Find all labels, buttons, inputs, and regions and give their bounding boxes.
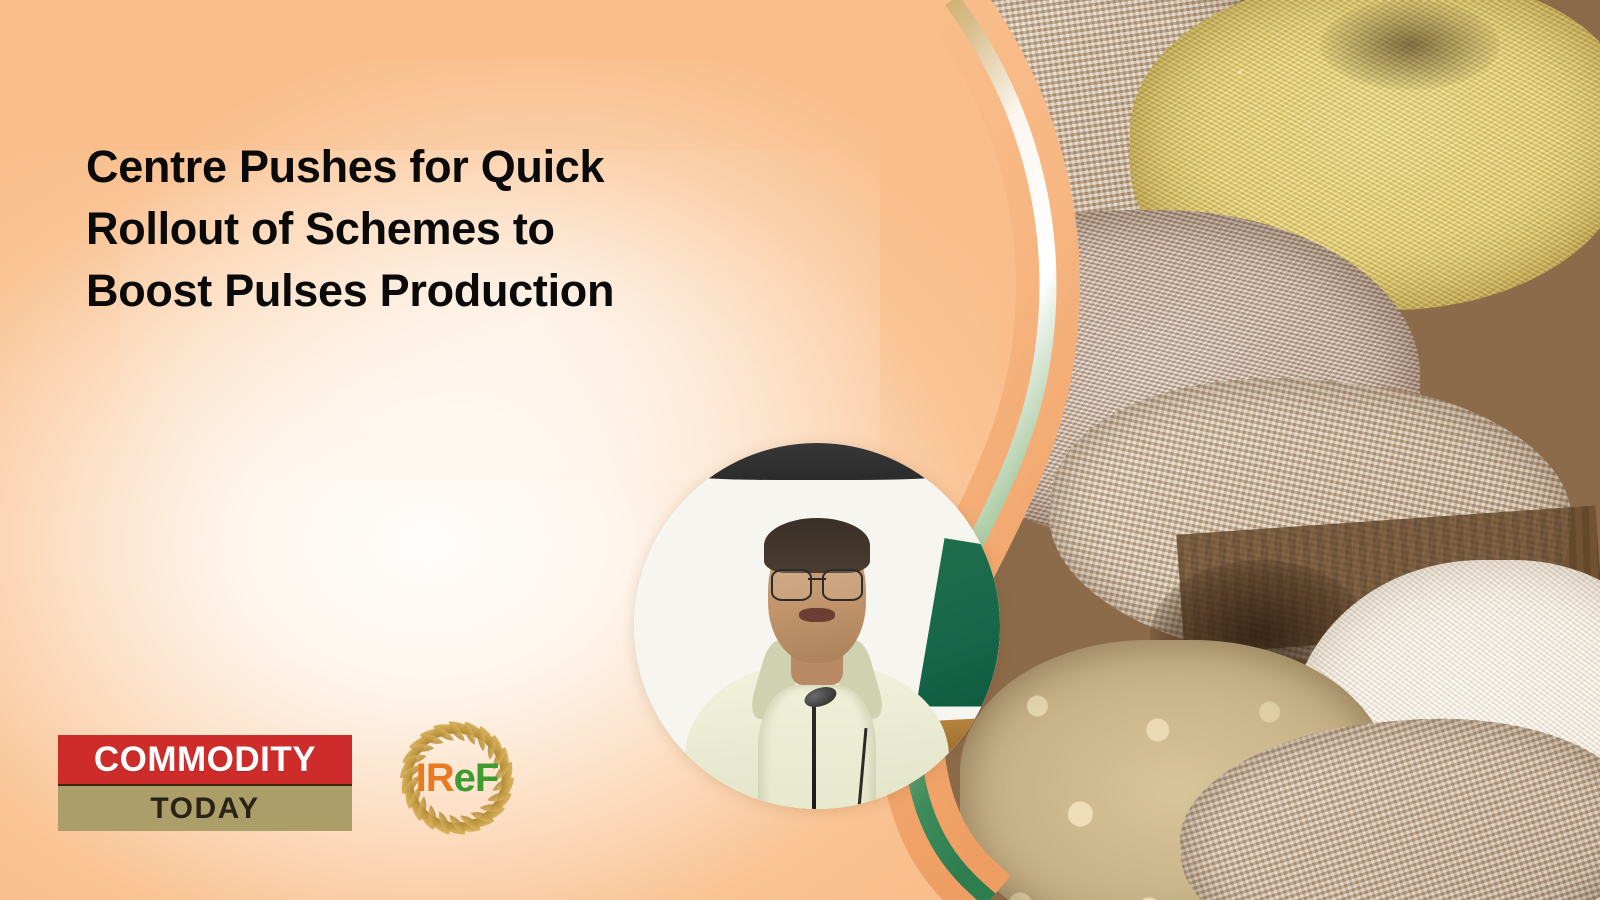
iref-letter-e: e [454,756,475,801]
headline-line-3: Boost Pulses Production [86,260,786,322]
iref-wordmark: IReF [382,703,532,853]
iref-letter-i: I [416,756,426,801]
commodity-today-logo[interactable]: COMMODITY TODAY [58,735,352,829]
eyeglasses-icon [771,569,863,596]
logo-top-band: COMMODITY [58,735,352,786]
photo-shadow-top [1320,0,1500,90]
eyeglasses-bridge [808,578,826,580]
headline-line-1: Centre Pushes for Quick [86,136,786,198]
person-hair [764,518,870,573]
logo-bottom-band: TODAY [58,786,352,831]
portrait-top-banner [634,443,1000,480]
iref-logo[interactable]: IReF [382,703,532,853]
iref-letter-r: R [426,756,454,801]
microphone-stem [812,699,816,809]
logo-today-text: TODAY [150,792,259,826]
headline-line-2: Rollout of Schemes to [86,198,786,260]
iref-letter-f: F [475,756,498,801]
headline: Centre Pushes for Quick Rollout of Schem… [86,136,786,322]
logo-commodity-text: COMMODITY [94,740,316,780]
portrait-avatar [634,443,1000,809]
person-mouth [799,608,836,623]
news-card: Centre Pushes for Quick Rollout of Schem… [0,0,1600,900]
